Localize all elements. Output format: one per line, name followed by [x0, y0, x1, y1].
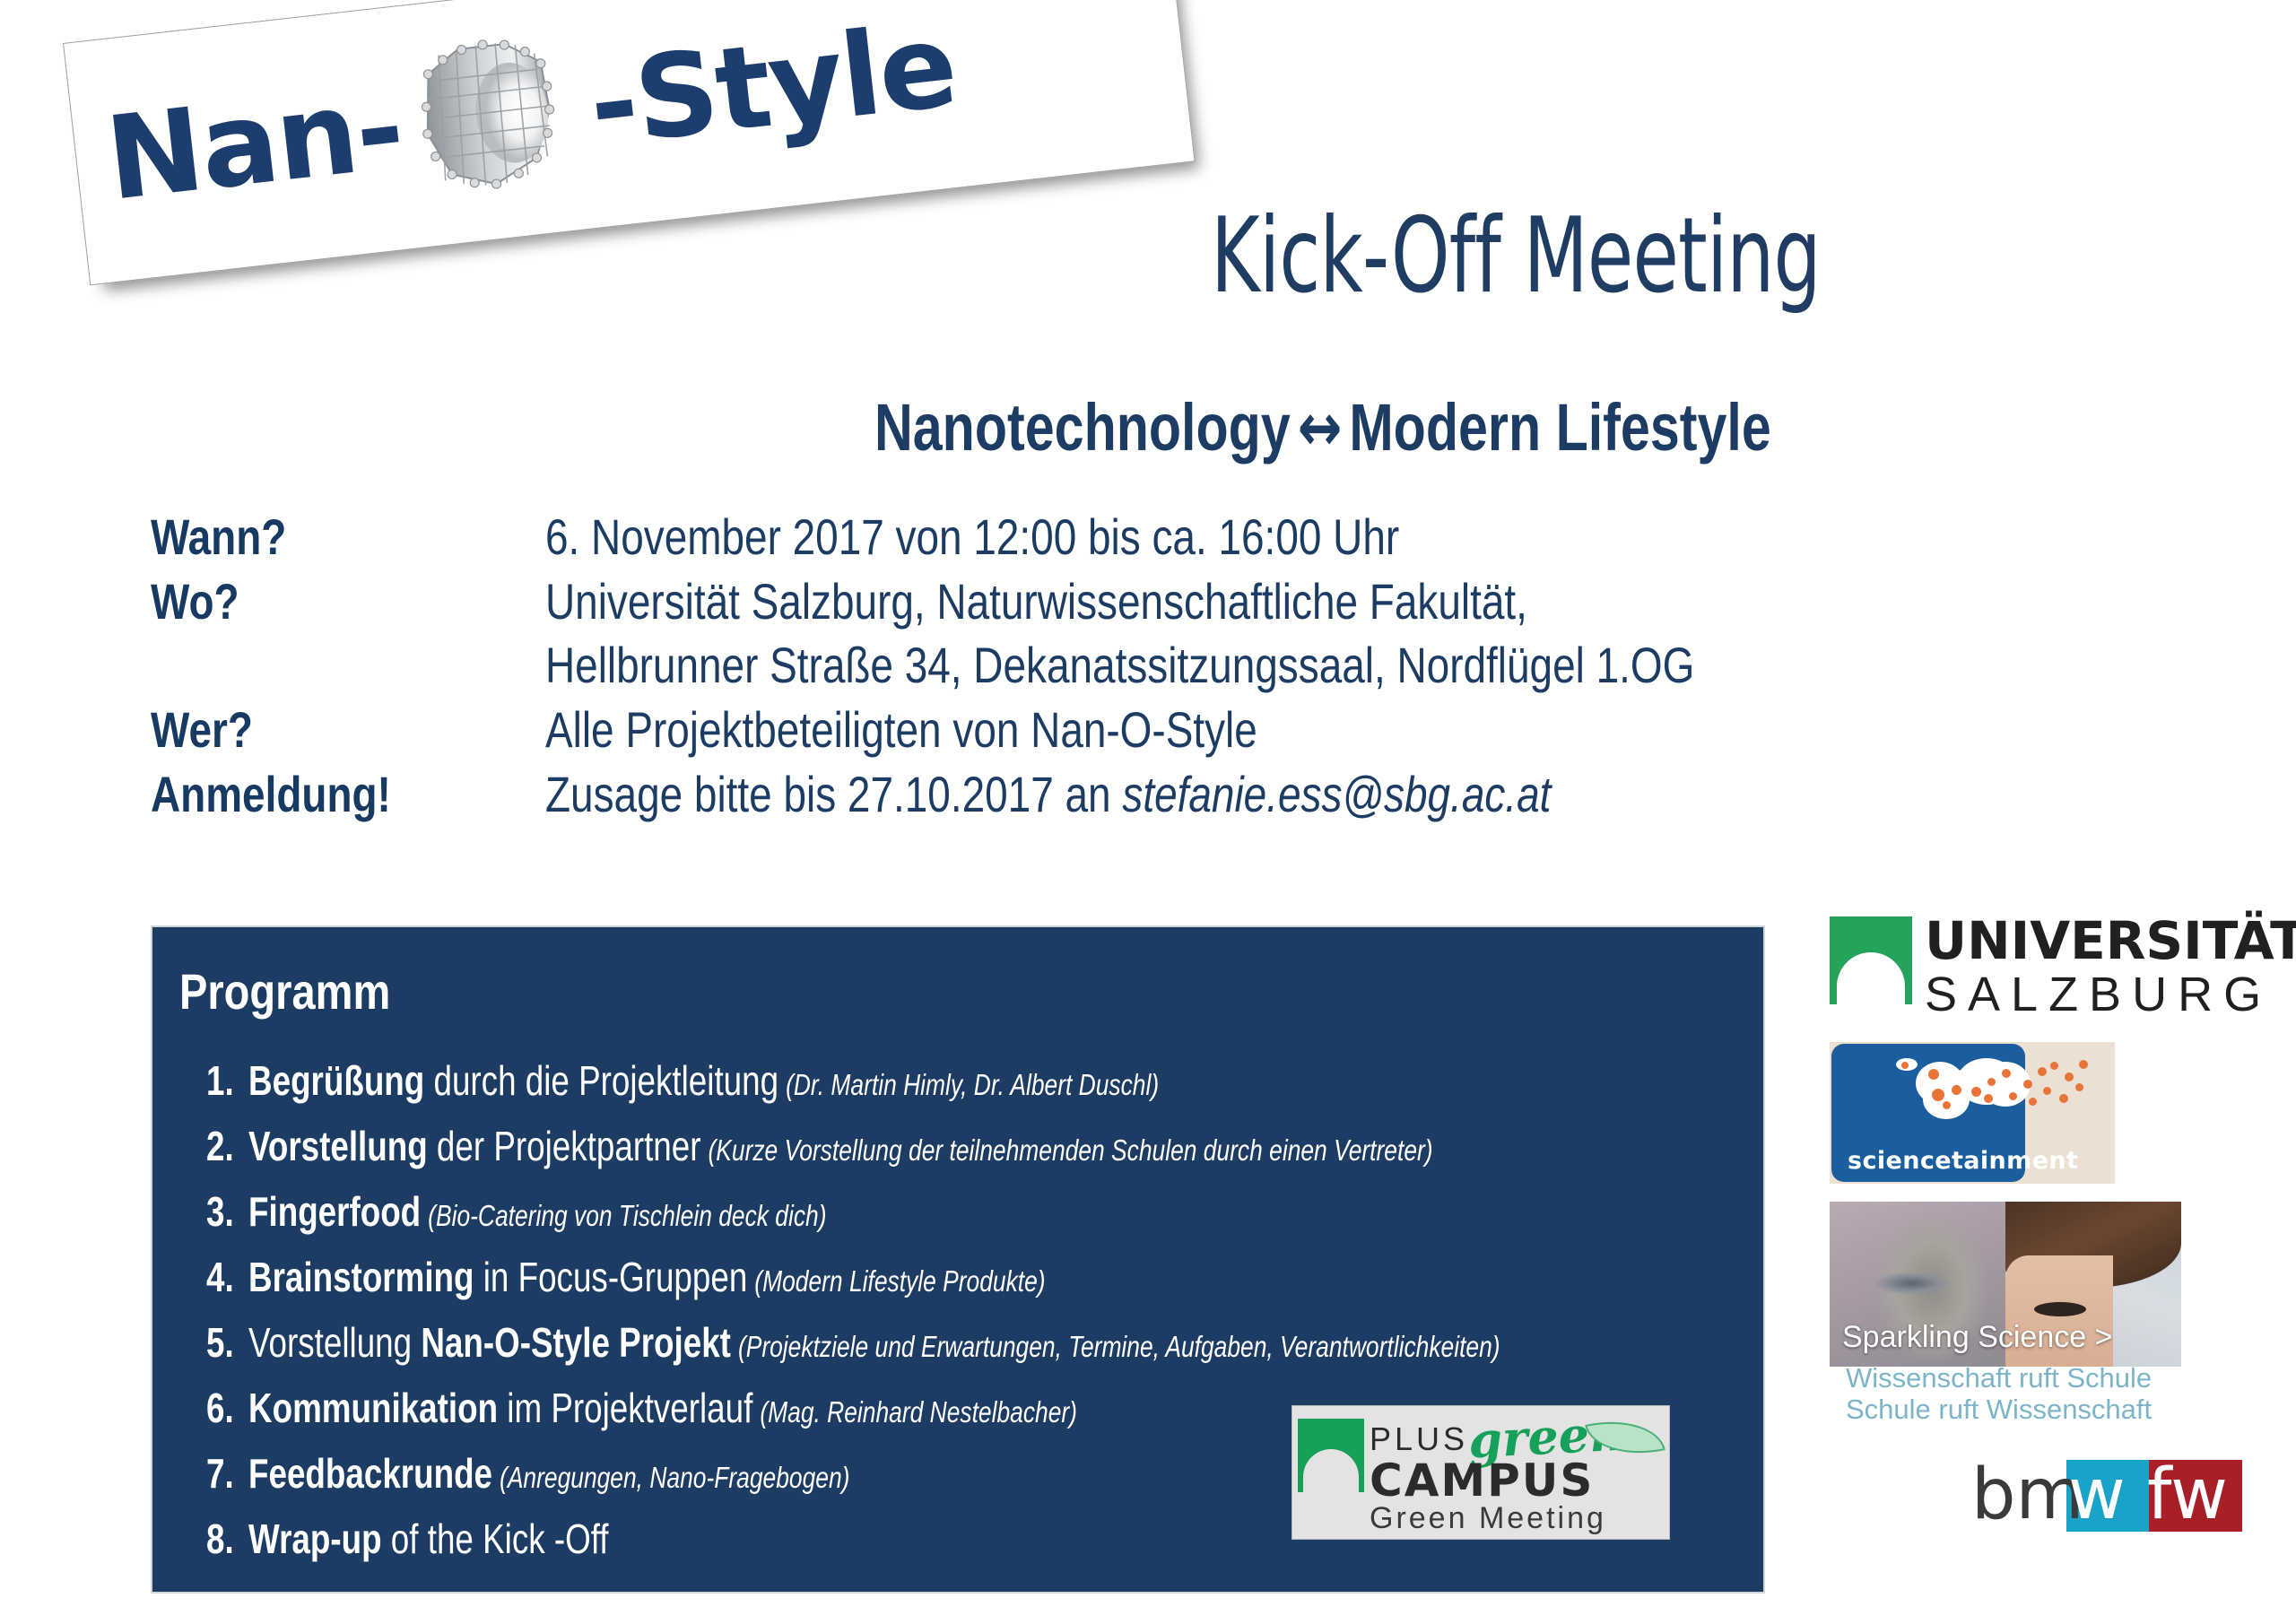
info-row-wo: Wo? Universität Salzburg, Naturwissensch… — [151, 571, 2034, 632]
list-item: 1. Begrüßung durch die Projektleitung(Dr… — [206, 1060, 1445, 1101]
subtitle-left: Nanotechnology — [874, 390, 1291, 465]
item-note: (Bio-Catering von Tischlein deck dich) — [421, 1199, 826, 1232]
dot-icon — [2038, 1067, 2047, 1076]
list-item: 3. Fingerfood(Bio-Catering von Tischlein… — [206, 1191, 1445, 1232]
item-plain: Vorstellung — [248, 1319, 421, 1366]
item-number: 4. — [206, 1256, 239, 1298]
dot-icon — [2050, 1062, 2058, 1070]
dot-icon — [2043, 1087, 2051, 1095]
sparkling-science-subtitle: Wissenschaft ruft Schule Schule ruft Wis… — [1846, 1363, 2181, 1424]
dot-icon — [1943, 1101, 1951, 1109]
bmwfw-part3: fw — [2147, 1455, 2228, 1535]
dot-icon — [1901, 1062, 1909, 1069]
dot-icon — [2009, 1092, 2017, 1100]
item-bold: Brainstorming — [248, 1254, 474, 1300]
bidirectional-arrow-icon: ↔ — [1291, 389, 1350, 466]
bmwfw-part2: w — [2068, 1455, 2126, 1535]
item-note: (Anregungen, Nano-Fragebogen) — [492, 1461, 849, 1494]
logo-text-left: Nan- — [101, 71, 408, 218]
item-plain: in Focus-Gruppen — [474, 1254, 748, 1300]
bmwfw-part1: bm — [1971, 1455, 2084, 1535]
list-item: 2. Vorstellung der Projektpartner(Kurze … — [206, 1125, 1445, 1167]
sciencetainment-logo: sciencetainment — [1830, 1042, 2115, 1184]
pgc-campus-text: CAMPUS — [1370, 1455, 1594, 1507]
item-bold: Kommunikation — [248, 1385, 498, 1431]
item-plain: der Projektpartner — [428, 1123, 701, 1169]
uni-salzburg-line2: SALZBURG — [1925, 968, 2272, 1021]
uni-salzburg-mark-icon — [1830, 916, 1912, 1004]
item-plain: of the Kick -Off — [382, 1515, 609, 1562]
item-bold: Wrap-up — [248, 1515, 382, 1562]
info-label: Wann? — [151, 507, 474, 568]
info-value: Alle Projektbeteiligten von Nan-O-Style — [545, 699, 1766, 760]
uni-salzburg-line1: UNIVERSITÄT — [1925, 913, 2296, 970]
list-item: 8. Wrap-up of the Kick -Off — [206, 1518, 1445, 1559]
dot-icon — [2065, 1073, 2074, 1081]
info-value: Hellbrunner Straße 34, Dekanatssitzungss… — [545, 635, 1766, 696]
item-plain: im Projektverlauf — [498, 1385, 752, 1431]
list-item: 4. Brainstorming in Focus-Gruppen(Modern… — [206, 1256, 1445, 1298]
uni-salzburg-logo: UNIVERSITÄT SALZBURG — [1830, 913, 2251, 1029]
item-number: 5. — [206, 1322, 239, 1363]
contact-email-link[interactable]: stefanie.ess@sbg.ac.at — [1122, 766, 1551, 822]
item-note: (Dr. Martin Himly, Dr. Albert Duschl) — [778, 1068, 1159, 1101]
dot-icon — [2079, 1060, 2088, 1069]
dot-icon — [1987, 1078, 1996, 1086]
dot-icon — [1984, 1094, 1993, 1103]
sparkling-science-logo: Sparkling Science > Wissenschaft ruft Sc… — [1830, 1202, 2181, 1424]
item-note — [609, 1526, 616, 1559]
dot-icon — [1928, 1069, 1939, 1080]
info-value: Universität Salzburg, Naturwissenschaftl… — [545, 571, 1766, 632]
sponsor-logo-column: UNIVERSITÄT SALZBURG sciencetainment — [1830, 913, 2251, 1537]
dot-icon — [1932, 1089, 1944, 1101]
event-info-block: Wann? 6. November 2017 von 12:00 bis ca.… — [151, 507, 2034, 829]
eye-shape — [2034, 1302, 2086, 1316]
item-note: (Mag. Reinhard Nestelbacher) — [752, 1395, 1077, 1429]
plus-green-campus-logo: PLUS green CAMPUS Green Meeting — [1291, 1405, 1670, 1540]
anmeldung-text: Zusage bitte bis 27.10.2017 an — [545, 766, 1122, 822]
item-number: 3. — [206, 1191, 239, 1232]
sparkling-science-image: Sparkling Science > — [1830, 1202, 2181, 1367]
info-row-wer: Wer? Alle Projektbeteiligten von Nan-O-S… — [151, 699, 2034, 760]
dot-icon — [2075, 1083, 2083, 1091]
item-note: (Projektziele und Erwartungen, Termine, … — [731, 1330, 1500, 1363]
page-title: Kick-Off Meeting — [1211, 204, 1821, 308]
dot-icon — [1971, 1087, 1981, 1097]
sparkling-science-sub-line2: Schule ruft Wissenschaft — [1846, 1394, 2181, 1424]
item-bold: Fingerfood — [248, 1188, 421, 1235]
dot-icon — [2059, 1094, 2068, 1103]
info-label: Wo? — [151, 571, 474, 632]
dot-icon — [2023, 1080, 2032, 1089]
item-number: 2. — [206, 1125, 239, 1167]
program-heading: Programm — [179, 967, 390, 1017]
item-plain: durch die Projektleitung — [424, 1057, 778, 1104]
plus-green-campus-mark-icon — [1298, 1419, 1364, 1492]
info-row-wann: Wann? 6. November 2017 von 12:00 bis ca.… — [151, 507, 2034, 568]
item-number: 8. — [206, 1518, 239, 1559]
info-value: 6. November 2017 von 12:00 bis ca. 16:00… — [545, 507, 1766, 568]
program-panel: Programm 1. Begrüßung durch die Projektl… — [151, 925, 1765, 1594]
list-item: 6. Kommunikation im Projektverlauf(Mag. … — [206, 1387, 1445, 1429]
dot-icon — [2002, 1069, 2011, 1078]
nan-o-style-logo-card: Nan- — [63, 0, 1196, 285]
sparkling-science-sub-line1: Wissenschaft ruft Schule — [1846, 1363, 2181, 1394]
item-bold: Feedbackrunde — [248, 1450, 492, 1497]
dot-icon — [2029, 1098, 2037, 1106]
sparkling-science-caption: Sparkling Science > — [1842, 1320, 2112, 1355]
sciencetainment-label: sciencetainment — [1848, 1147, 2078, 1175]
dot-icon — [1952, 1085, 1961, 1095]
item-bold: Nan-O-Style Projekt — [421, 1319, 731, 1366]
subtitle-right: Modern Lifestyle — [1349, 390, 1770, 465]
info-label: Wer? — [151, 699, 474, 760]
item-bold: Begrüßung — [248, 1057, 424, 1104]
item-note: (Kurze Vorstellung der teilnehmenden Sch… — [700, 1133, 1432, 1167]
info-value-anmeldung: Zusage bitte bis 27.10.2017 an stefanie.… — [545, 764, 1766, 825]
item-number: 1. — [206, 1060, 239, 1101]
info-row-wo-cont: Hellbrunner Straße 34, Dekanatssitzungss… — [151, 635, 2034, 696]
logo-text-right: -Style — [584, 9, 961, 164]
item-number: 7. — [206, 1453, 239, 1494]
item-number: 6. — [206, 1387, 239, 1429]
list-item: 5. Vorstellung Nan-O-Style Projekt(Proje… — [206, 1322, 1445, 1363]
info-row-anmeldung: Anmeldung! Zusage bitte bis 27.10.2017 a… — [151, 764, 2034, 825]
list-item: 7. Feedbackrunde(Anregungen, Nano-Frageb… — [206, 1453, 1445, 1494]
bmwfw-logo: bm w fw — [1971, 1455, 2240, 1537]
item-note: (Modern Lifestyle Produkte) — [747, 1264, 1045, 1298]
pgc-meeting-text: Green Meeting — [1370, 1501, 1606, 1536]
item-bold: Vorstellung — [248, 1123, 428, 1169]
carbon-nanotube-icon — [396, 16, 595, 211]
page-subtitle: Nanotechnology↔Modern Lifestyle — [874, 395, 1771, 461]
info-label-anmeldung: Anmeldung! — [151, 764, 474, 825]
pgc-plus-text: PLUS — [1370, 1420, 1468, 1458]
